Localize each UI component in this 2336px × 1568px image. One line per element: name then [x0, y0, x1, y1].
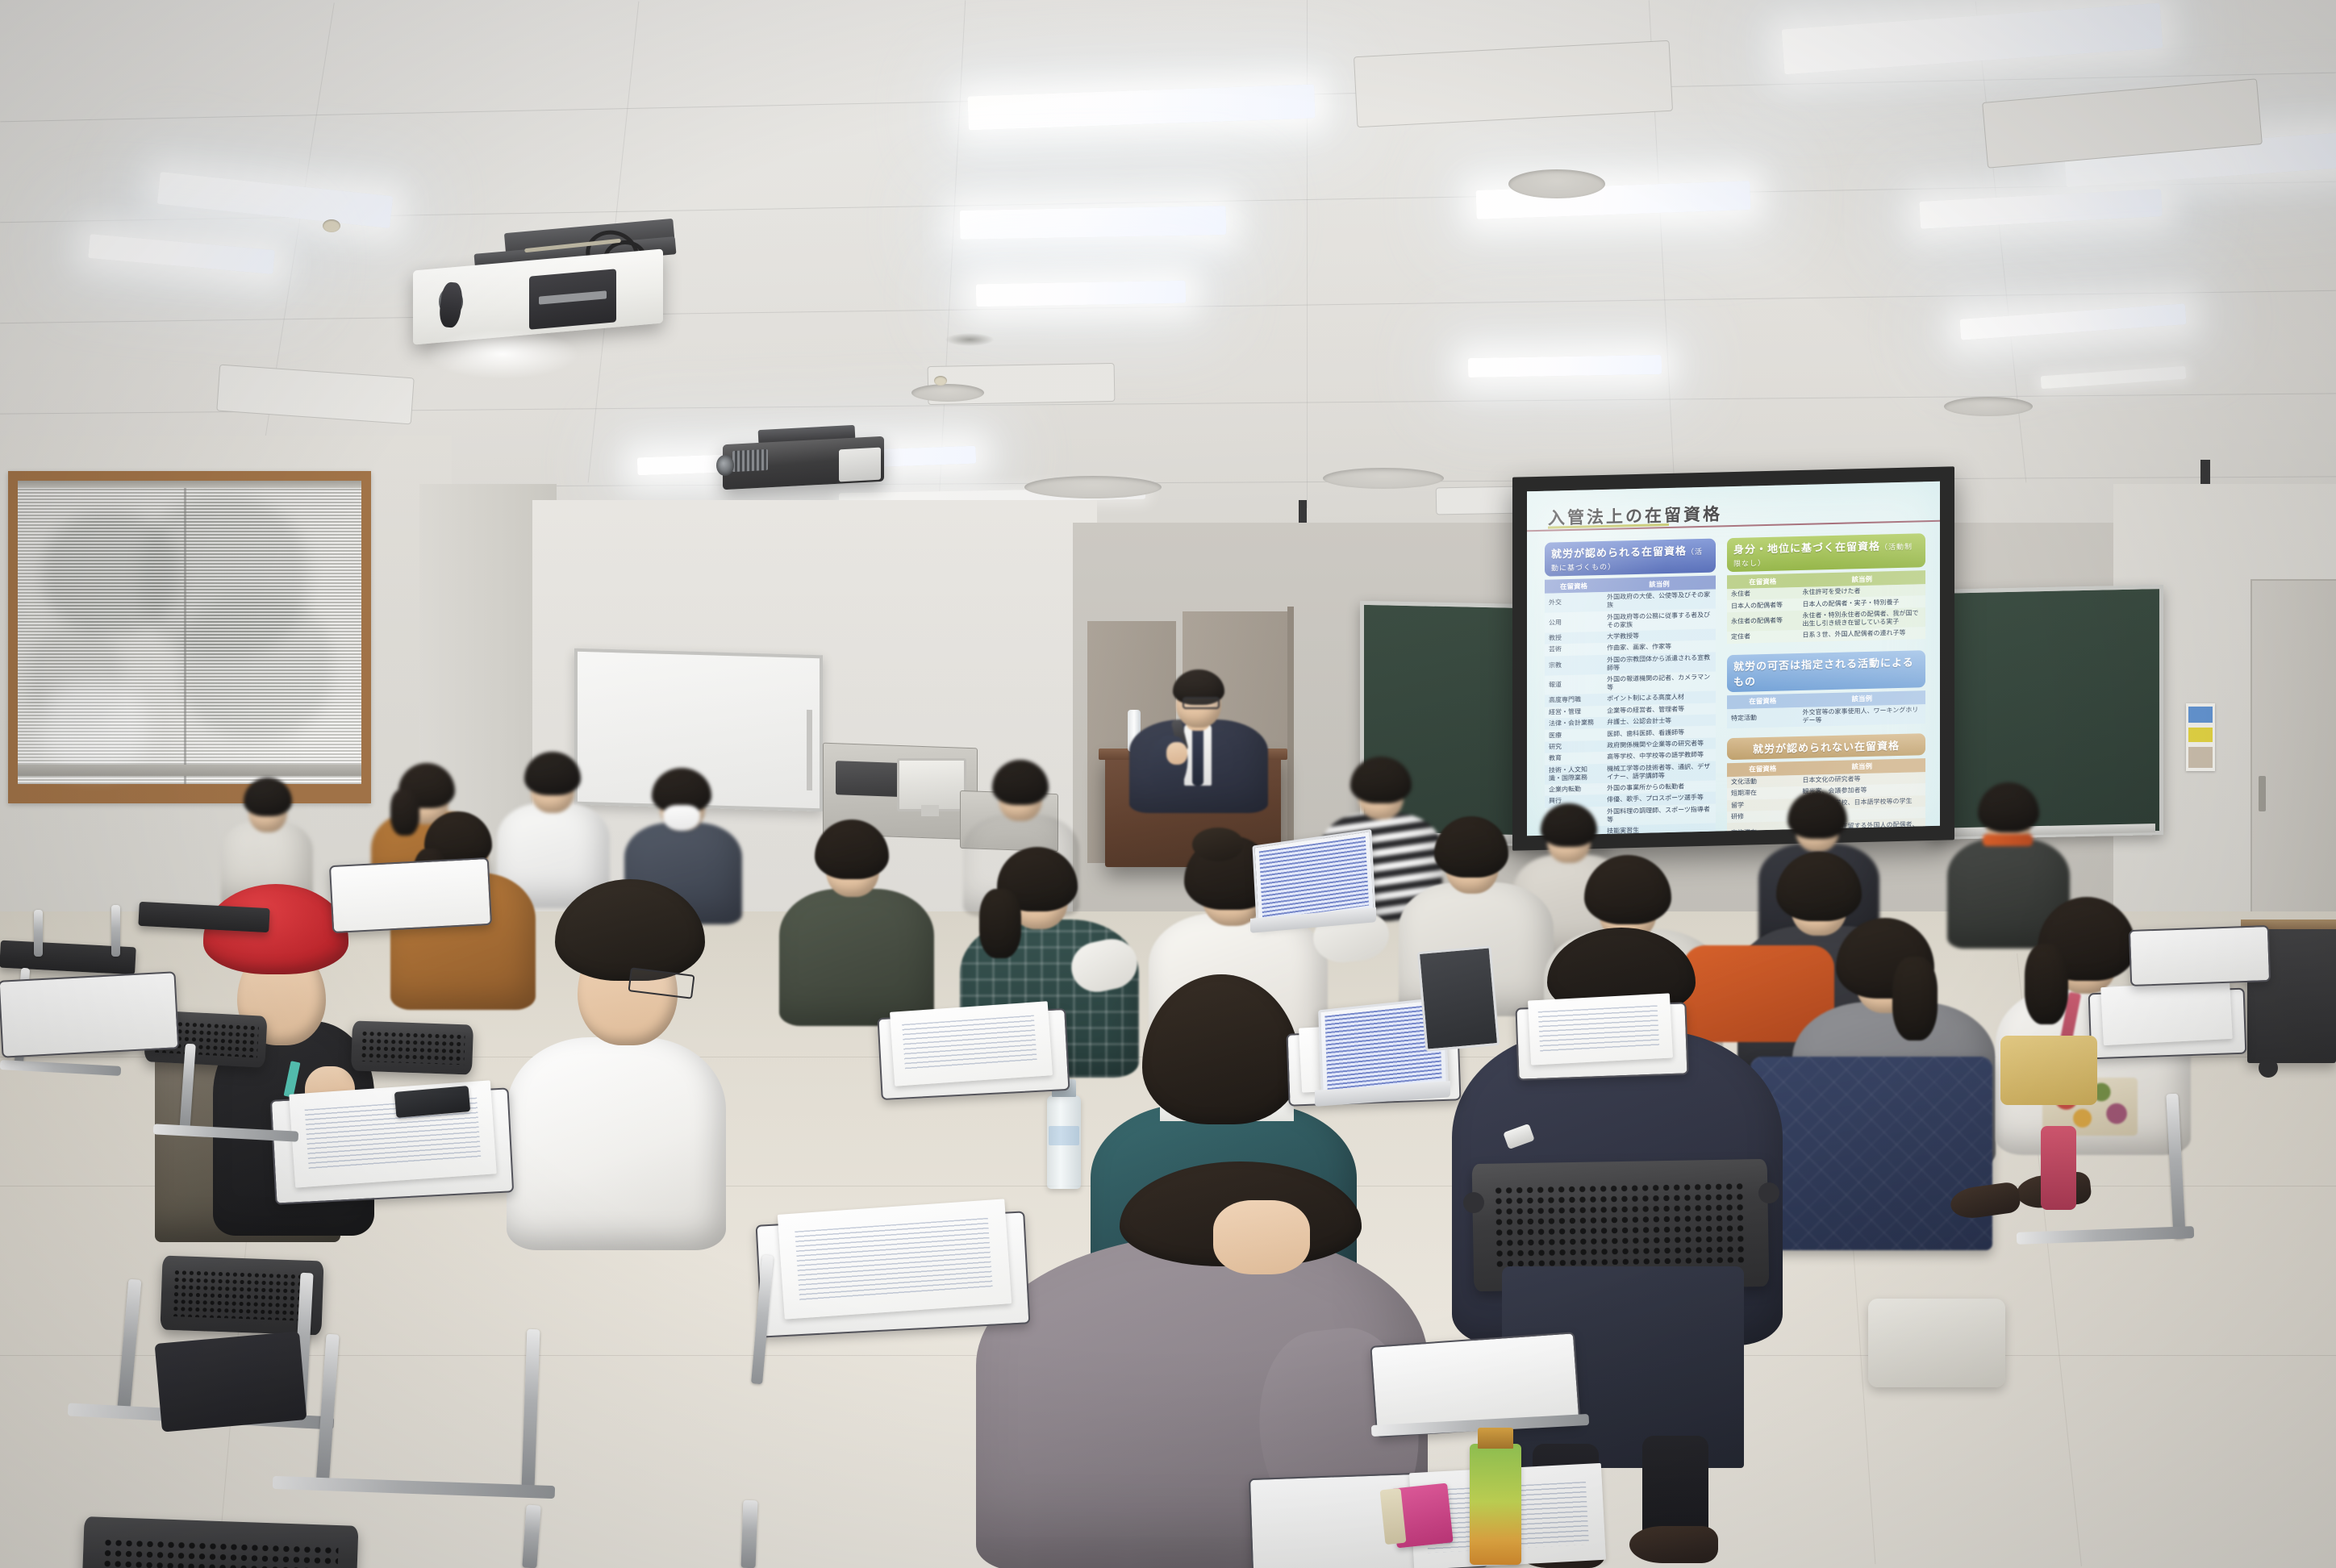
projector-left	[387, 226, 694, 371]
cell: 永住者の配偶者等	[1727, 611, 1799, 632]
ceiling-vent	[1944, 397, 2033, 416]
handout	[890, 1001, 1053, 1086]
sprinkler-head	[934, 376, 947, 386]
white-shirt	[507, 1037, 726, 1250]
cell: 技術・人文知識・国際業務	[1545, 763, 1603, 784]
bob-hair	[1142, 974, 1300, 1124]
student-green-top	[776, 815, 937, 1024]
bag-on-floor	[2000, 1036, 2097, 1105]
col-head: 在留資格	[1727, 694, 1799, 709]
cell: 特定活動	[1727, 707, 1799, 729]
hair	[555, 879, 705, 981]
classroom-photo: 入管法上の在留資格 就労が認められる在留資格（活動に基づくもの） 在留資格 該当…	[0, 0, 2336, 1568]
col-head: 在留資格	[1727, 573, 1799, 589]
cell: 公用	[1545, 611, 1603, 632]
col-head: 在留資格	[1727, 761, 1799, 777]
bag-on-floor	[1868, 1299, 2005, 1387]
cell: 外国の宗教団体から派遣される宣教師等	[1603, 652, 1716, 674]
cell: 機械工学等の技術者等、通訳、デザイナー、語学講師等	[1603, 761, 1716, 783]
ceiling-blemish	[945, 333, 994, 346]
wall-notice	[2186, 703, 2215, 771]
chair-back	[81, 1516, 359, 1568]
ceiling-light	[1468, 355, 1662, 377]
tablet-device[interactable]	[1417, 945, 1500, 1052]
cell: 日系３世、外国人配偶者の連れ子等	[1799, 627, 1925, 641]
door-right[interactable]	[2250, 579, 2336, 968]
cell: 外国の報道機関の記者、カメラマン等	[1603, 671, 1716, 694]
ceiling-light	[960, 206, 1227, 240]
handout	[2100, 981, 2233, 1045]
window-frame	[8, 471, 371, 803]
tablet-arm-desk	[0, 971, 179, 1057]
chair-back	[351, 1020, 473, 1074]
red-item	[2041, 1126, 2076, 1210]
caster-wheel	[2259, 1058, 2278, 1078]
ceiling-vent	[1508, 169, 1605, 198]
slide-surface: 入管法上の在留資格 就労が認められる在留資格（活動に基づくもの） 在留資格 該当…	[1527, 482, 1940, 836]
slide-right-band-3: 就労が認められない在留資格	[1753, 740, 1900, 755]
handout	[1528, 993, 1673, 1065]
student-white-shirt-glasses	[494, 871, 760, 1250]
handout	[778, 1199, 1012, 1319]
tablet-arm-desk	[329, 857, 492, 933]
venetian-blinds[interactable]	[18, 481, 361, 784]
cell: 定住者	[1727, 630, 1799, 644]
cell: 報道	[1545, 674, 1603, 695]
slide-right-band-2: 就労の可否は指定される活動による もの	[1733, 656, 1914, 687]
lecturer-tie	[1192, 729, 1203, 786]
cell: 外交官等の家事使用人、ワーキングホリデー等	[1799, 704, 1925, 727]
ceiling-light	[976, 281, 1186, 307]
slide-right-table-2: 在留資格 該当例 特定活動外交官等の家事使用人、ワーキングホリデー等	[1727, 690, 1925, 728]
slide-left-band: 就労が認められる在留資格	[1551, 544, 1687, 560]
projection-screen: 入管法上の在留資格 就労が認められる在留資格（活動に基づくもの） 在留資格 該当…	[1512, 466, 1954, 850]
cell: 外国政府の大使、公使等及びその家族	[1603, 590, 1716, 612]
tablet-arm-desk	[2129, 925, 2271, 986]
neck	[1213, 1200, 1310, 1274]
ceiling-vent	[911, 384, 984, 402]
projector-lens	[716, 455, 734, 476]
door-handle[interactable]	[2259, 776, 2266, 811]
window-pane	[18, 481, 361, 784]
cell: 宗教	[1545, 654, 1603, 675]
bag-on-floor	[155, 1331, 307, 1432]
orange-scarf	[1983, 834, 2033, 846]
lecturer	[1121, 668, 1274, 813]
lecturer-hand	[1166, 742, 1187, 765]
slide-right-band-1: 身分・地位に基づく在留資格	[1733, 540, 1880, 556]
face-mask	[663, 805, 700, 831]
ceiling-vent	[1024, 476, 1162, 498]
monitor	[897, 758, 966, 811]
tea-bottle	[1470, 1444, 1521, 1565]
cell: 外国政府等の公務に従事する者及びその家族	[1603, 609, 1716, 632]
ceiling-vent	[1323, 468, 1444, 489]
sprinkler-head	[323, 219, 340, 232]
cell: 外交	[1545, 592, 1603, 613]
slide-right-table-1: 在留資格 該当例 永住者永住許可を受けた者 日本人の配偶者等日本人の配偶者・実子…	[1727, 570, 1925, 644]
glasses-icon	[1183, 697, 1220, 709]
shoe	[1629, 1526, 1718, 1563]
col-head: 在留資格	[1545, 578, 1603, 594]
